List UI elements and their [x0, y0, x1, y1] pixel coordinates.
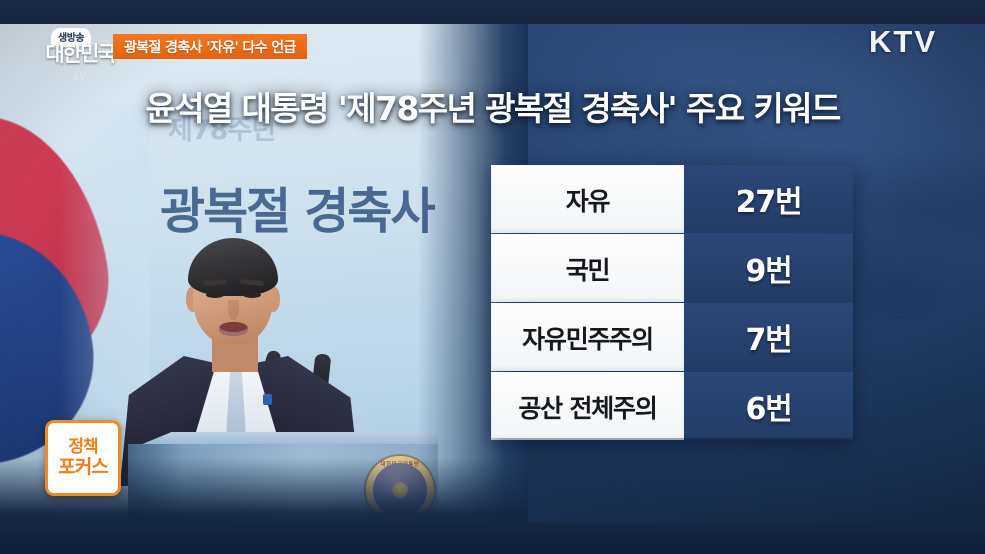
page-title: 윤석열 대통령 '제78주년 광복절 경축사' 주요 키워드: [0, 82, 985, 130]
live-program-logo: 생방송 대한민국 1부: [42, 28, 118, 84]
table-row: 자유 27번: [491, 165, 853, 233]
keyword-cell: 자유민주주의: [491, 303, 684, 371]
count-cell: 7번: [684, 303, 853, 371]
count-cell: 9번: [684, 234, 853, 302]
keyword-cell: 자유: [491, 165, 684, 233]
keyword-count-table: 자유 27번 국민 9번 자유민주주의 7번 공산 전체주의 6번: [491, 165, 853, 440]
policy-focus-badge: 정책 포커스: [45, 420, 121, 496]
badge-line-2: 포커스: [58, 457, 107, 478]
badge-line-1: 정책: [68, 438, 97, 457]
channel-logo: KTV: [869, 24, 937, 60]
keyword-cell: 공산 전체주의: [491, 372, 684, 440]
keyword-cell: 국민: [491, 234, 684, 302]
top-letterbox-bar: [0, 0, 985, 24]
bottom-letterbox-bar: [0, 523, 985, 554]
table-row: 자유민주주의 7번: [491, 303, 853, 371]
table-row: 공산 전체주의 6번: [491, 372, 853, 440]
program-name-label: 대한민국: [42, 42, 118, 66]
news-ticker-banner: 광복절 경축사 '자유' 다수 언급: [113, 34, 307, 59]
broadcast-screen: 제78주년 광복절 경축사 대한민국대통령 THE PRESIDENT OF: [0, 0, 985, 554]
program-part-label: 1부: [42, 68, 118, 83]
table-row: 국민 9번: [491, 234, 853, 302]
count-cell: 6번: [684, 372, 853, 440]
count-cell: 27번: [684, 165, 853, 233]
